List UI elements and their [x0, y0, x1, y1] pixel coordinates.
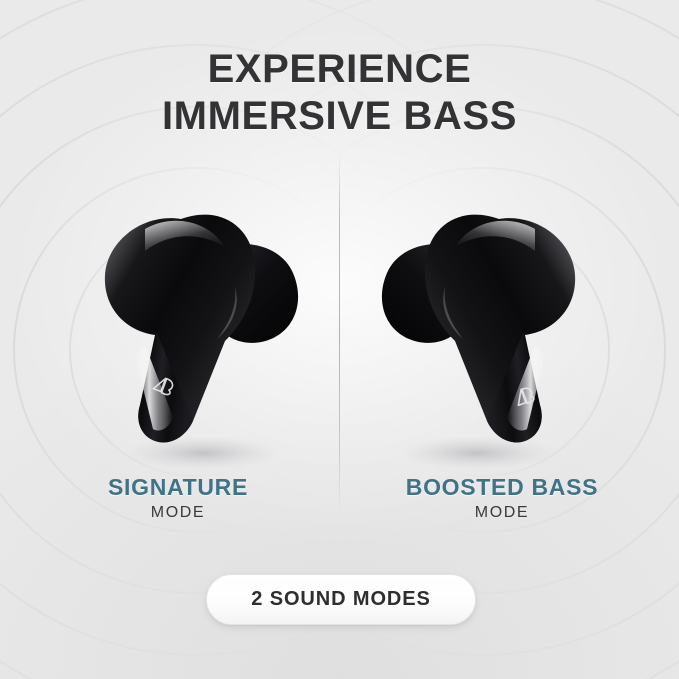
mode-label-boosted-bass: BOOSTED BASS MODE	[362, 474, 642, 522]
badge-label: 2 SOUND MODES	[251, 588, 431, 611]
earbud-illustration	[85, 195, 325, 470]
earbud-right	[355, 195, 595, 470]
mode-subtitle: MODE	[362, 503, 642, 522]
earbud-left	[85, 195, 325, 470]
page-title: EXPERIENCE IMMERSIVE BASS	[0, 46, 679, 140]
headline-line-1: EXPERIENCE	[208, 47, 472, 91]
earbud-illustration	[355, 195, 595, 470]
mode-label-signature: SIGNATURE MODE	[38, 474, 318, 522]
product-feature-banner: EXPERIENCE IMMERSIVE BASS	[0, 0, 679, 679]
mode-subtitle: MODE	[38, 503, 318, 522]
mode-title: BOOSTED BASS	[362, 474, 642, 500]
headline-line-2: IMMERSIVE BASS	[0, 93, 679, 140]
vertical-divider	[339, 152, 340, 512]
mode-title: SIGNATURE	[38, 474, 318, 500]
sound-modes-badge: 2 SOUND MODES	[206, 574, 476, 625]
